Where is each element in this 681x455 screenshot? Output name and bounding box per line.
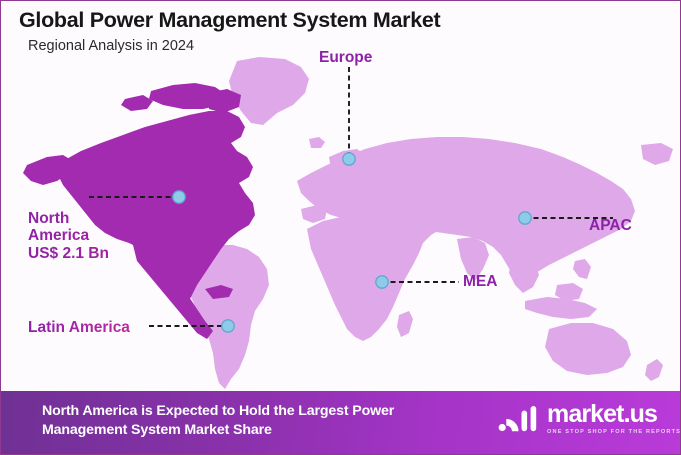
logo-wordmark: market.us (547, 402, 681, 427)
marker-europe (343, 153, 355, 165)
arctic-islet-a-shape (121, 95, 153, 111)
australia-shape (545, 323, 631, 375)
region-label-apac: APAC (589, 217, 632, 234)
infographic-card: Global Power Management System Market Re… (0, 0, 681, 455)
market-us-logo-text: market.us ONE STOP SHOP FOR THE REPORTS (547, 402, 681, 436)
market-us-logo: market.us ONE STOP SHOP FOR THE REPORTS (498, 402, 681, 436)
region-label-mea: MEA (463, 273, 497, 290)
marker-apac (519, 212, 531, 224)
siberia-tip-shape (641, 143, 673, 165)
region-label-latin-america: Latin America (28, 319, 130, 336)
iberia-shape (301, 205, 327, 223)
marker-mea (376, 276, 388, 288)
market-us-logo-mark (498, 404, 540, 434)
logo-tagline: ONE STOP SHOP FOR THE REPORTS (547, 430, 681, 436)
marker-north-america (173, 191, 185, 203)
greenland-shape (229, 57, 309, 125)
madagascar-shape (397, 311, 413, 337)
marker-latin-america (222, 320, 234, 332)
iceland-shape (309, 137, 325, 148)
page-subtitle: Regional Analysis in 2024 (28, 38, 194, 54)
philippines-shape (573, 259, 591, 279)
footer-banner: North America is Expected to Hold the La… (1, 391, 681, 454)
region-label-europe: Europe (319, 49, 372, 66)
region-label-north-america: North America US$ 2.1 Bn (28, 210, 109, 262)
banner-headline: North America is Expected to Hold the La… (42, 402, 462, 439)
page-title: Global Power Management System Market (19, 8, 440, 33)
new-zealand-shape (645, 359, 663, 381)
indonesia-shape (525, 297, 597, 319)
